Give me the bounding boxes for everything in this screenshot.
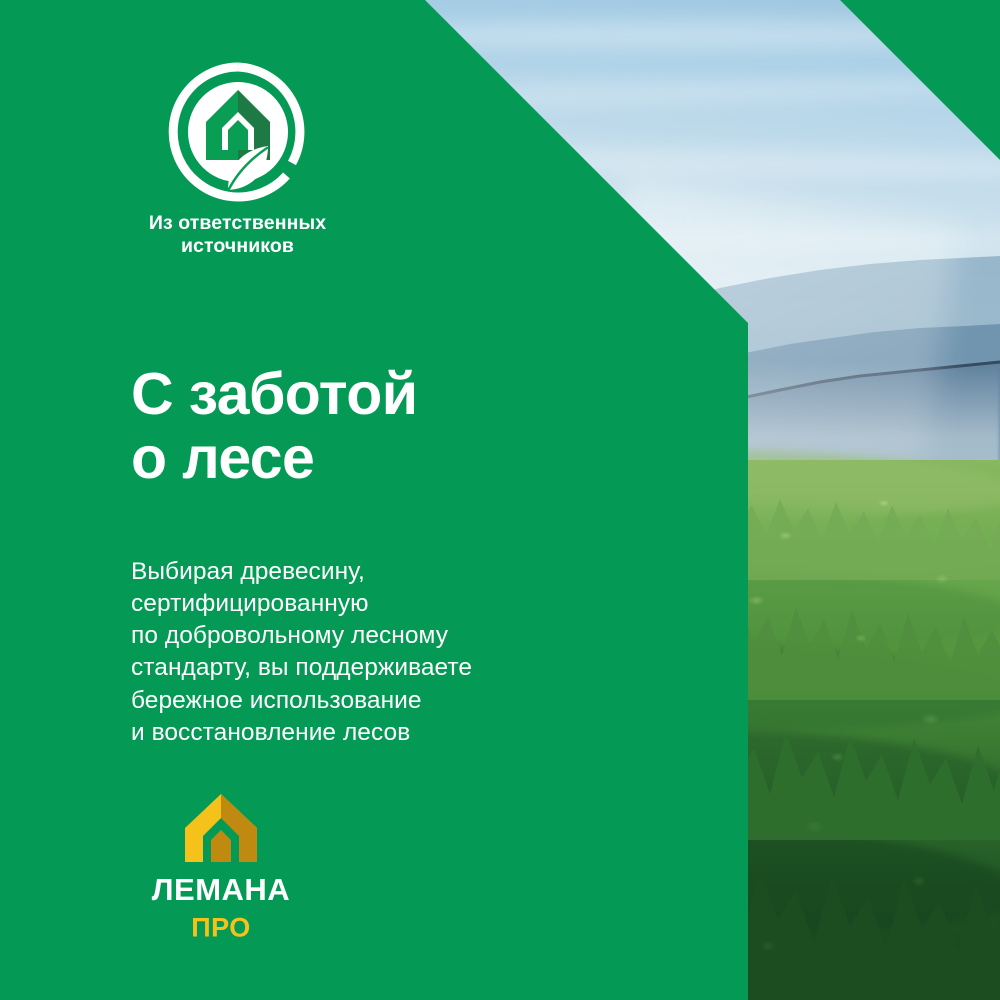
responsible-sources-caption: Из ответственных источников — [130, 212, 345, 258]
body-line-6: и восстановление лесов — [131, 717, 472, 749]
body-line-3: по добровольному лесному — [131, 620, 472, 652]
body-line-1: Выбирая древесину, — [131, 556, 472, 588]
emblem-caption-line-2: источников — [130, 235, 345, 258]
poster-content: Из ответственных источников С заботой о … — [0, 0, 1000, 1000]
headline-line-2: о лесе — [131, 426, 417, 490]
responsible-sources-emblem-icon — [168, 62, 308, 202]
body-line-2: сертифицированную — [131, 588, 472, 620]
lemana-pro-subword: ПРО — [171, 913, 271, 943]
responsible-sources-badge: Из ответственных источников — [130, 62, 345, 258]
svg-text:ЛЕМАНА: ЛЕМАНА — [152, 872, 290, 907]
emblem-caption-line-1: Из ответственных — [130, 212, 345, 235]
svg-text:ПРО: ПРО — [191, 913, 251, 943]
body-paragraph: Выбирая древесину, сертифицированную по … — [131, 556, 472, 750]
page-title: С заботой о лесе — [131, 362, 417, 491]
headline-line-1: С заботой — [131, 362, 417, 426]
body-line-4: стандарту, вы поддерживаете — [131, 652, 472, 684]
lemana-pro-logo: ЛЕМАНА ПРО — [131, 792, 311, 943]
lemana-wordmark: ЛЕМАНА — [132, 872, 310, 908]
body-line-5: бережное использование — [131, 685, 472, 717]
lemana-house-icon — [183, 792, 259, 864]
poster-root: Из ответственных источников С заботой о … — [0, 0, 1000, 1000]
